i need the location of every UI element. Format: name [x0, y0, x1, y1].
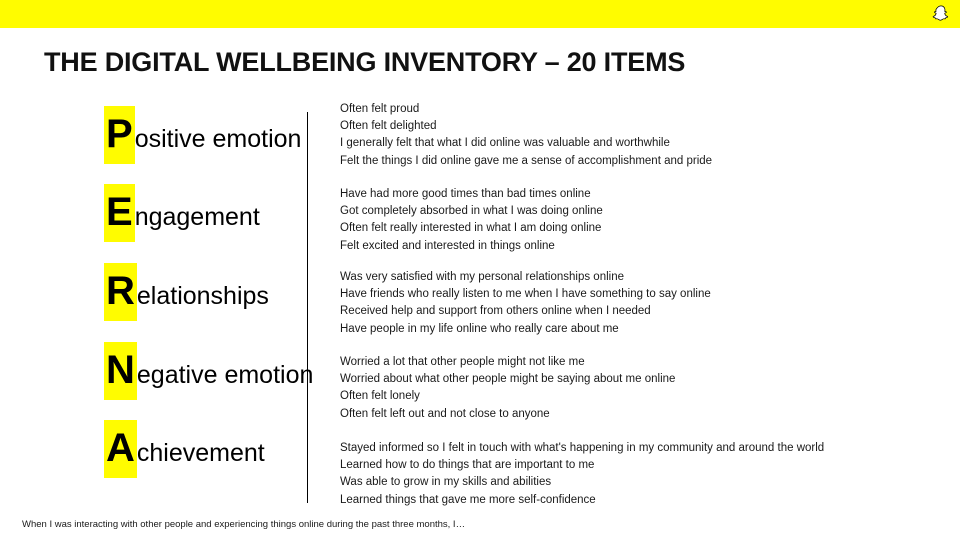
list-item: Have had more good times than bad times …: [340, 186, 940, 203]
item-group-engagement: Have had more good times than bad times …: [340, 186, 940, 255]
list-item: Worried a lot that other people might no…: [340, 354, 940, 371]
list-item: Have friends who really listen to me whe…: [340, 286, 940, 303]
acronym-item-negative-emotion: Negative emotion: [104, 350, 313, 390]
item-group-relationships: Was very satisfied with my personal rela…: [340, 269, 940, 338]
acronym-label: ositive emotion: [135, 125, 302, 153]
list-item: Have people in my life online who really…: [340, 321, 940, 338]
item-group-negative-emotion: Worried a lot that other people might no…: [340, 354, 940, 423]
vertical-divider: [307, 112, 308, 503]
acronym-item-achievement: Achievement: [104, 428, 265, 468]
acronym-label: chievement: [137, 439, 265, 467]
snapchat-ghost-icon: [930, 3, 952, 25]
item-group-achievement: Stayed informed so I felt in touch with …: [340, 440, 940, 509]
list-item: Often felt really interested in what I a…: [340, 220, 940, 237]
list-item: Often felt left out and not close to any…: [340, 406, 940, 423]
list-item: Often felt lonely: [340, 388, 940, 405]
list-item: Often felt delighted: [340, 118, 940, 135]
list-item: Felt excited and interested in things on…: [340, 238, 940, 255]
acronym-capital-letter: P: [104, 106, 135, 164]
list-item: Worried about what other people might be…: [340, 371, 940, 388]
list-item: Was very satisfied with my personal rela…: [340, 269, 940, 286]
list-item: Learned how to do things that are import…: [340, 457, 940, 474]
list-item: Felt the things I did online gave me a s…: [340, 153, 940, 170]
acronym-label: ngagement: [135, 203, 260, 231]
list-item: Got completely absorbed in what I was do…: [340, 203, 940, 220]
list-item: Stayed informed so I felt in touch with …: [340, 440, 940, 457]
content-area: Positive emotion Engagement Relationship…: [0, 96, 960, 508]
acronym-capital-letter: A: [104, 420, 137, 478]
acronym-capital-letter: R: [104, 263, 137, 321]
list-item: I generally felt that what I did online …: [340, 135, 940, 152]
page-title: THE DIGITAL WELLBEING INVENTORY – 20 ITE…: [44, 47, 685, 78]
acronym-item-engagement: Engagement: [104, 192, 260, 232]
list-item: Often felt proud: [340, 101, 940, 118]
acronym-label: elationships: [137, 282, 269, 310]
acronym-capital-letter: E: [104, 184, 135, 242]
item-group-positive-emotion: Often felt proud Often felt delighted I …: [340, 101, 940, 170]
acronym-item-positive-emotion: Positive emotion: [104, 114, 301, 154]
acronym-label: egative emotion: [137, 361, 314, 389]
list-item: Was able to grow in my skills and abilit…: [340, 474, 940, 491]
list-item: Learned things that gave me more self-co…: [340, 492, 940, 509]
acronym-item-relationships: Relationships: [104, 271, 269, 311]
brand-bar: [0, 0, 960, 28]
footer-stem-text: When I was interacting with other people…: [22, 519, 465, 530]
list-item: Received help and support from others on…: [340, 303, 940, 320]
acronym-capital-letter: N: [104, 342, 137, 400]
